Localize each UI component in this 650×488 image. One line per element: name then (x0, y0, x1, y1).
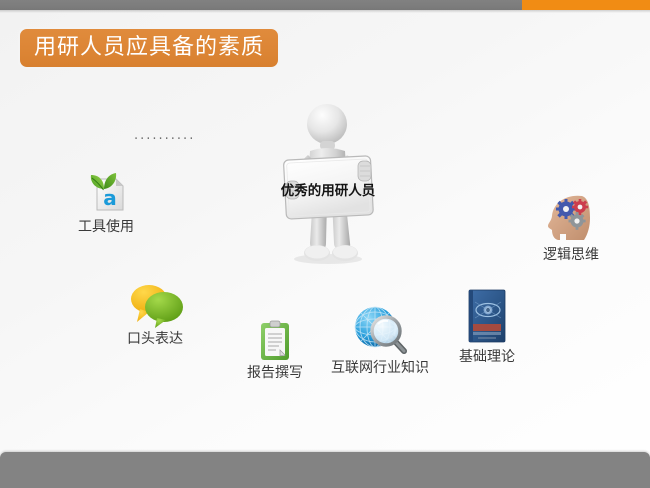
node-basic-theory[interactable]: 基础理论 (450, 288, 524, 365)
bottom-bar (0, 452, 650, 488)
node-label-verbal-expression: 口头表达 (127, 332, 183, 347)
svg-text:a: a (103, 186, 117, 210)
node-internet-industry[interactable]: 互联网行业知识 (328, 305, 432, 376)
top-bar-orange-segment (522, 0, 650, 10)
ellipsis-dots: .......... (134, 129, 178, 142)
node-label-internet-industry: 互联网行业知识 (331, 361, 429, 376)
node-label-logical-thinking: 逻辑思维 (543, 248, 599, 263)
mannequin-holding-sign: 优秀的用研人员 (272, 103, 384, 265)
top-bar-shadow (0, 10, 650, 13)
node-label-report-writing: 报告撰写 (247, 366, 303, 381)
clipboard-icon (258, 320, 292, 362)
mannequin-icon (272, 103, 384, 265)
node-verbal-expression[interactable]: 口头表达 (110, 282, 200, 347)
speech-bubbles-icon (124, 282, 186, 328)
node-label-basic-theory: 基础理论 (459, 350, 515, 365)
node-report-writing[interactable]: 报告撰写 (238, 320, 312, 381)
page-title: 用研人员应具备的素质 (34, 37, 264, 59)
slide-canvas: 用研人员应具备的素质 .......... (0, 0, 650, 488)
head-gears-icon (544, 190, 598, 244)
node-label-tool-use: 工具使用 (78, 220, 134, 235)
page-title-banner: 用研人员应具备的素质 (18, 27, 280, 69)
leaf-document-icon: a (82, 168, 130, 216)
top-bar-gray-segment (0, 0, 522, 10)
node-logical-thinking[interactable]: 逻辑思维 (533, 190, 609, 263)
node-tool-use[interactable]: a 工具使用 (68, 168, 144, 235)
book-eye-icon (464, 288, 510, 346)
globe-magnifier-icon (352, 305, 408, 357)
